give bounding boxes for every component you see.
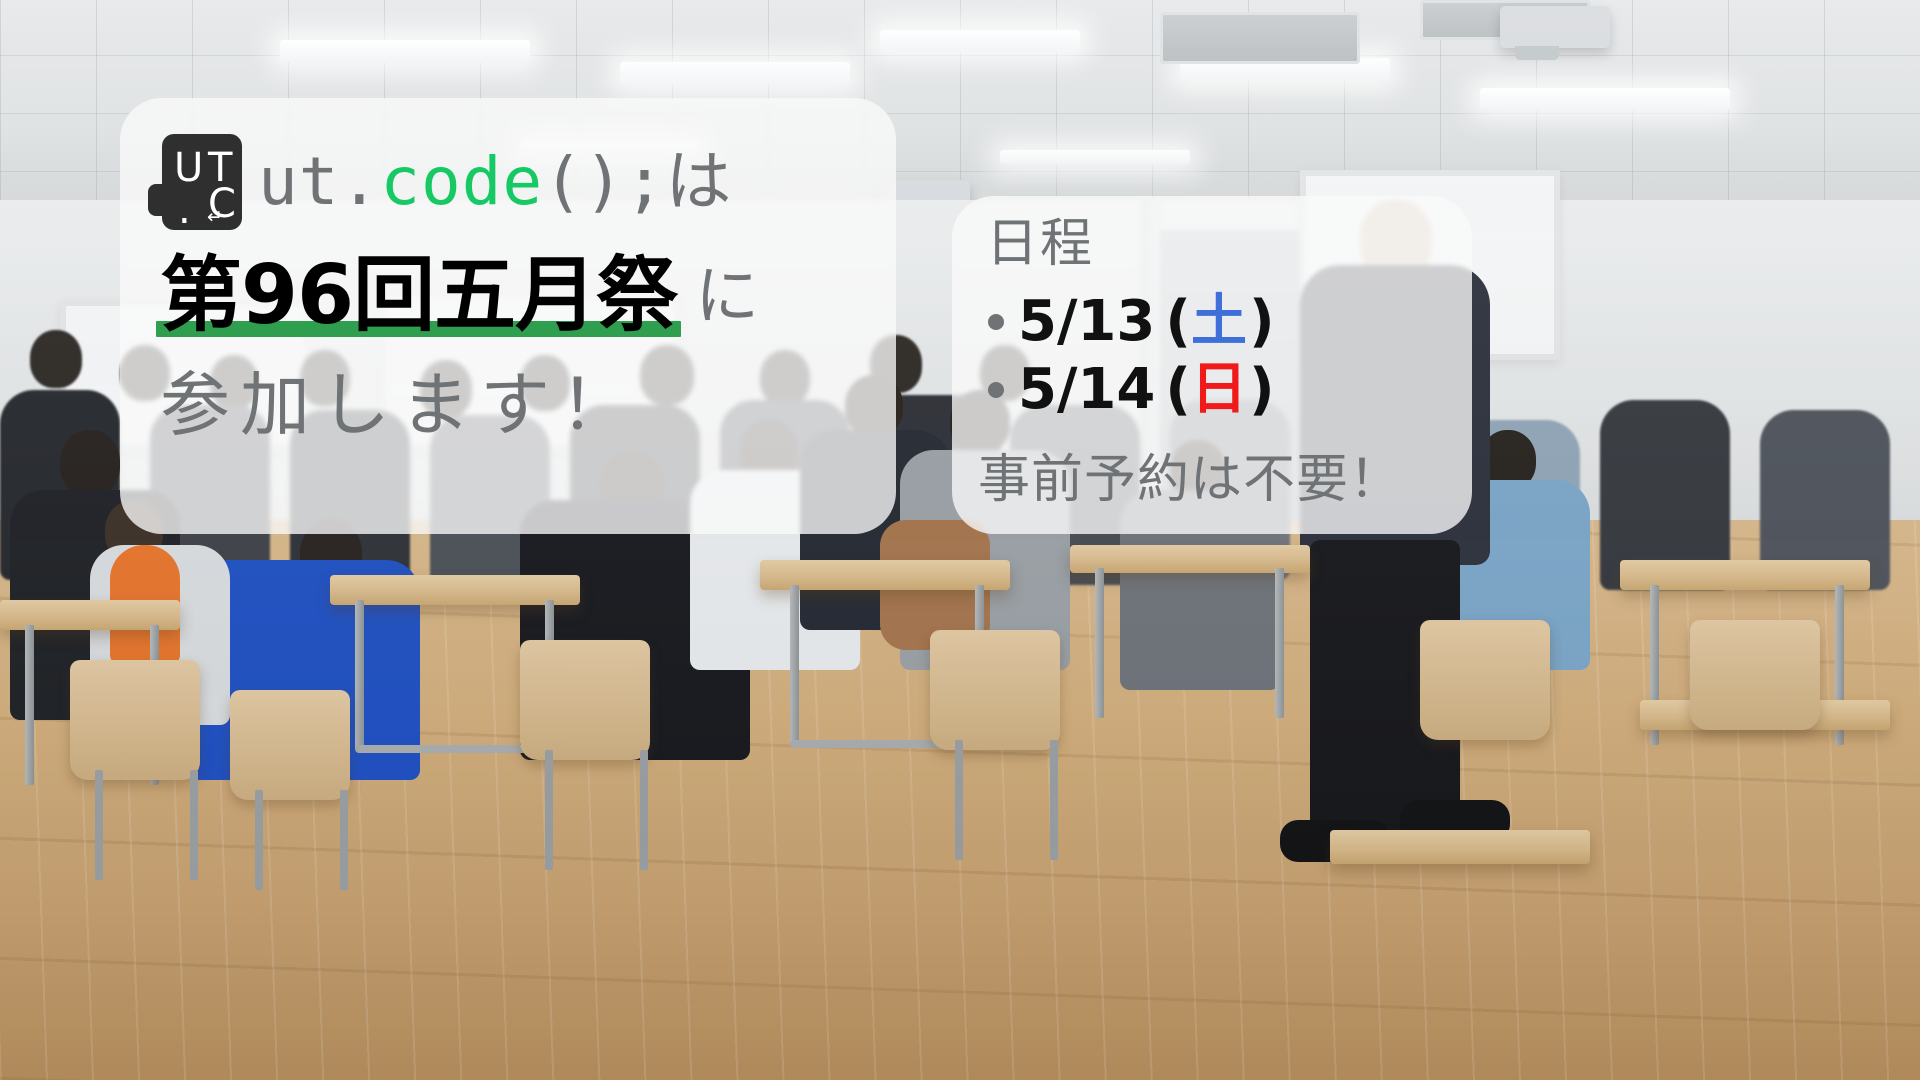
chair — [70, 660, 200, 780]
festival-line: 第96回五月祭 に — [160, 253, 759, 339]
chair-leg — [255, 790, 263, 890]
poster-canvas: U T . C ↵ ut.code();は 第96回五月祭 に 参加します！ 日… — [0, 0, 1920, 1080]
schedule-card: 日程 5/13 ( 土 ) 5/14 ( 日 ) 事前予約は不要！ — [952, 196, 1472, 534]
brand-row: U T . C ↵ ut.code();は — [162, 134, 732, 230]
chair-leg — [1050, 740, 1058, 860]
chair-leg — [640, 750, 648, 870]
projector — [1500, 6, 1610, 48]
schedule-list: 5/13 ( 土 ) 5/14 ( 日 ) — [976, 288, 1275, 425]
desk — [330, 575, 580, 605]
chair — [930, 630, 1060, 750]
festival-name: 第96回五月祭 — [160, 248, 677, 343]
headline-card: U T . C ↵ ut.code();は 第96回五月祭 に 参加します！ — [120, 98, 896, 534]
desk-leg — [25, 625, 34, 785]
date-value: 5/14 — [1018, 356, 1155, 424]
schedule-title: 日程 — [986, 218, 1094, 270]
paren-open: ( — [1165, 356, 1191, 424]
logo-notch — [148, 184, 176, 216]
desk-leg — [355, 600, 364, 750]
logo-dot: . — [178, 190, 191, 230]
ceiling-vent — [1160, 12, 1360, 64]
paren-close: ) — [1249, 288, 1275, 356]
desk-leg — [1095, 568, 1104, 718]
day-of-week: 土 — [1191, 288, 1247, 356]
participation-line: 参加します！ — [160, 370, 640, 440]
list-item: 5/14 ( 日 ) — [976, 356, 1275, 424]
headline-code-word: code — [380, 143, 543, 220]
desk — [1070, 545, 1310, 573]
ceiling-light — [620, 62, 850, 84]
chair-leg — [190, 770, 198, 880]
person-head — [60, 430, 120, 496]
headline-suffix: (); — [543, 143, 665, 220]
reservation-note: 事前予約は不要！ — [978, 454, 1402, 506]
chair-leg — [95, 770, 103, 880]
person-head — [30, 330, 82, 388]
headline-particle-wa: は — [665, 143, 732, 220]
list-item: 5/13 ( 土 ) — [976, 288, 1275, 356]
paren-close: ) — [1249, 356, 1275, 424]
paren-open: ( — [1165, 288, 1191, 356]
ceiling-light — [880, 30, 1080, 52]
chair-leg — [545, 750, 553, 870]
chair-leg — [340, 790, 348, 890]
logo-return-icon: ↵ — [207, 208, 223, 227]
ceiling-light — [280, 40, 530, 62]
festival-name-wrap: 第96回五月祭 — [160, 253, 677, 339]
desk-leg — [1275, 568, 1284, 718]
headline-prefix: ut. — [258, 143, 380, 220]
chair — [1420, 620, 1550, 740]
chair — [520, 640, 650, 760]
particle-ni: に — [695, 256, 759, 339]
bullet-icon — [988, 314, 1004, 330]
day-of-week: 日 — [1191, 356, 1247, 424]
brand-headline: ut.code();は — [258, 149, 732, 215]
ceiling-light — [1000, 150, 1190, 164]
utcode-logo-icon: U T . C ↵ — [162, 134, 242, 230]
chair — [230, 690, 350, 800]
ceiling-light — [1480, 88, 1730, 110]
logo-letter-u: U — [174, 148, 203, 188]
chair-leg — [955, 740, 963, 860]
chair — [1690, 620, 1820, 730]
bullet-icon — [988, 382, 1004, 398]
desk — [1330, 830, 1590, 864]
desk-leg — [790, 585, 799, 745]
date-value: 5/13 — [1018, 288, 1155, 356]
